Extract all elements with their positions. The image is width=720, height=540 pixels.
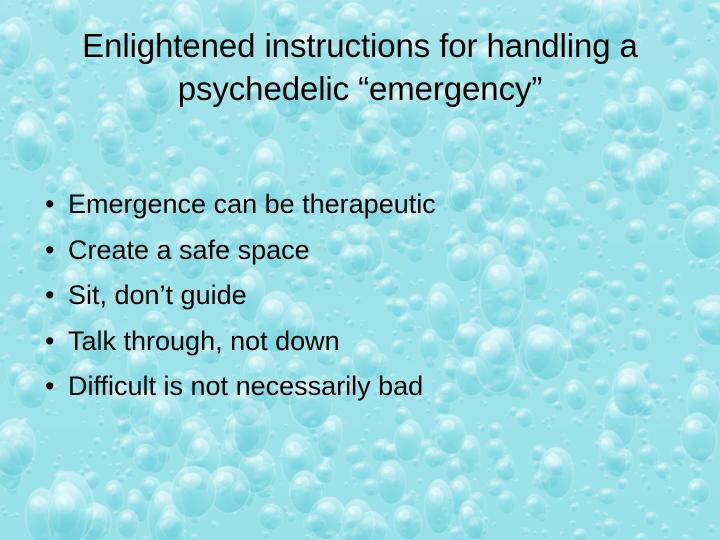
list-item: • Sit, don’t guide <box>40 273 640 319</box>
bullet-marker-icon: • <box>45 273 54 319</box>
list-item-label: Emergence can be therapeutic <box>68 189 436 219</box>
list-item-label: Talk through, not down <box>68 326 340 356</box>
bullet-list: • Emergence can be therapeutic • Create … <box>40 182 640 410</box>
list-item: • Emergence can be therapeutic <box>40 182 640 228</box>
bullet-marker-icon: • <box>45 228 54 274</box>
list-item: • Difficult is not necessarily bad <box>40 364 640 410</box>
list-item: • Create a safe space <box>40 228 640 274</box>
slide-title-line-2: psychedelic “emergency” <box>36 67 684 110</box>
slide-title: Enlightened instructions for handling a … <box>36 24 684 110</box>
list-item-label: Create a safe space <box>68 235 310 265</box>
list-item: • Talk through, not down <box>40 319 640 365</box>
list-item-label: Difficult is not necessarily bad <box>68 371 423 401</box>
list-item-label: Sit, don’t guide <box>68 280 247 310</box>
bullet-marker-icon: • <box>45 319 54 365</box>
slide-content: Enlightened instructions for handling a … <box>0 0 720 540</box>
slide-title-line-1: Enlightened instructions for handling a <box>36 24 684 67</box>
presentation-slide: Enlightened instructions for handling a … <box>0 0 720 540</box>
bullet-marker-icon: • <box>45 364 54 410</box>
bullet-marker-icon: • <box>45 182 54 228</box>
